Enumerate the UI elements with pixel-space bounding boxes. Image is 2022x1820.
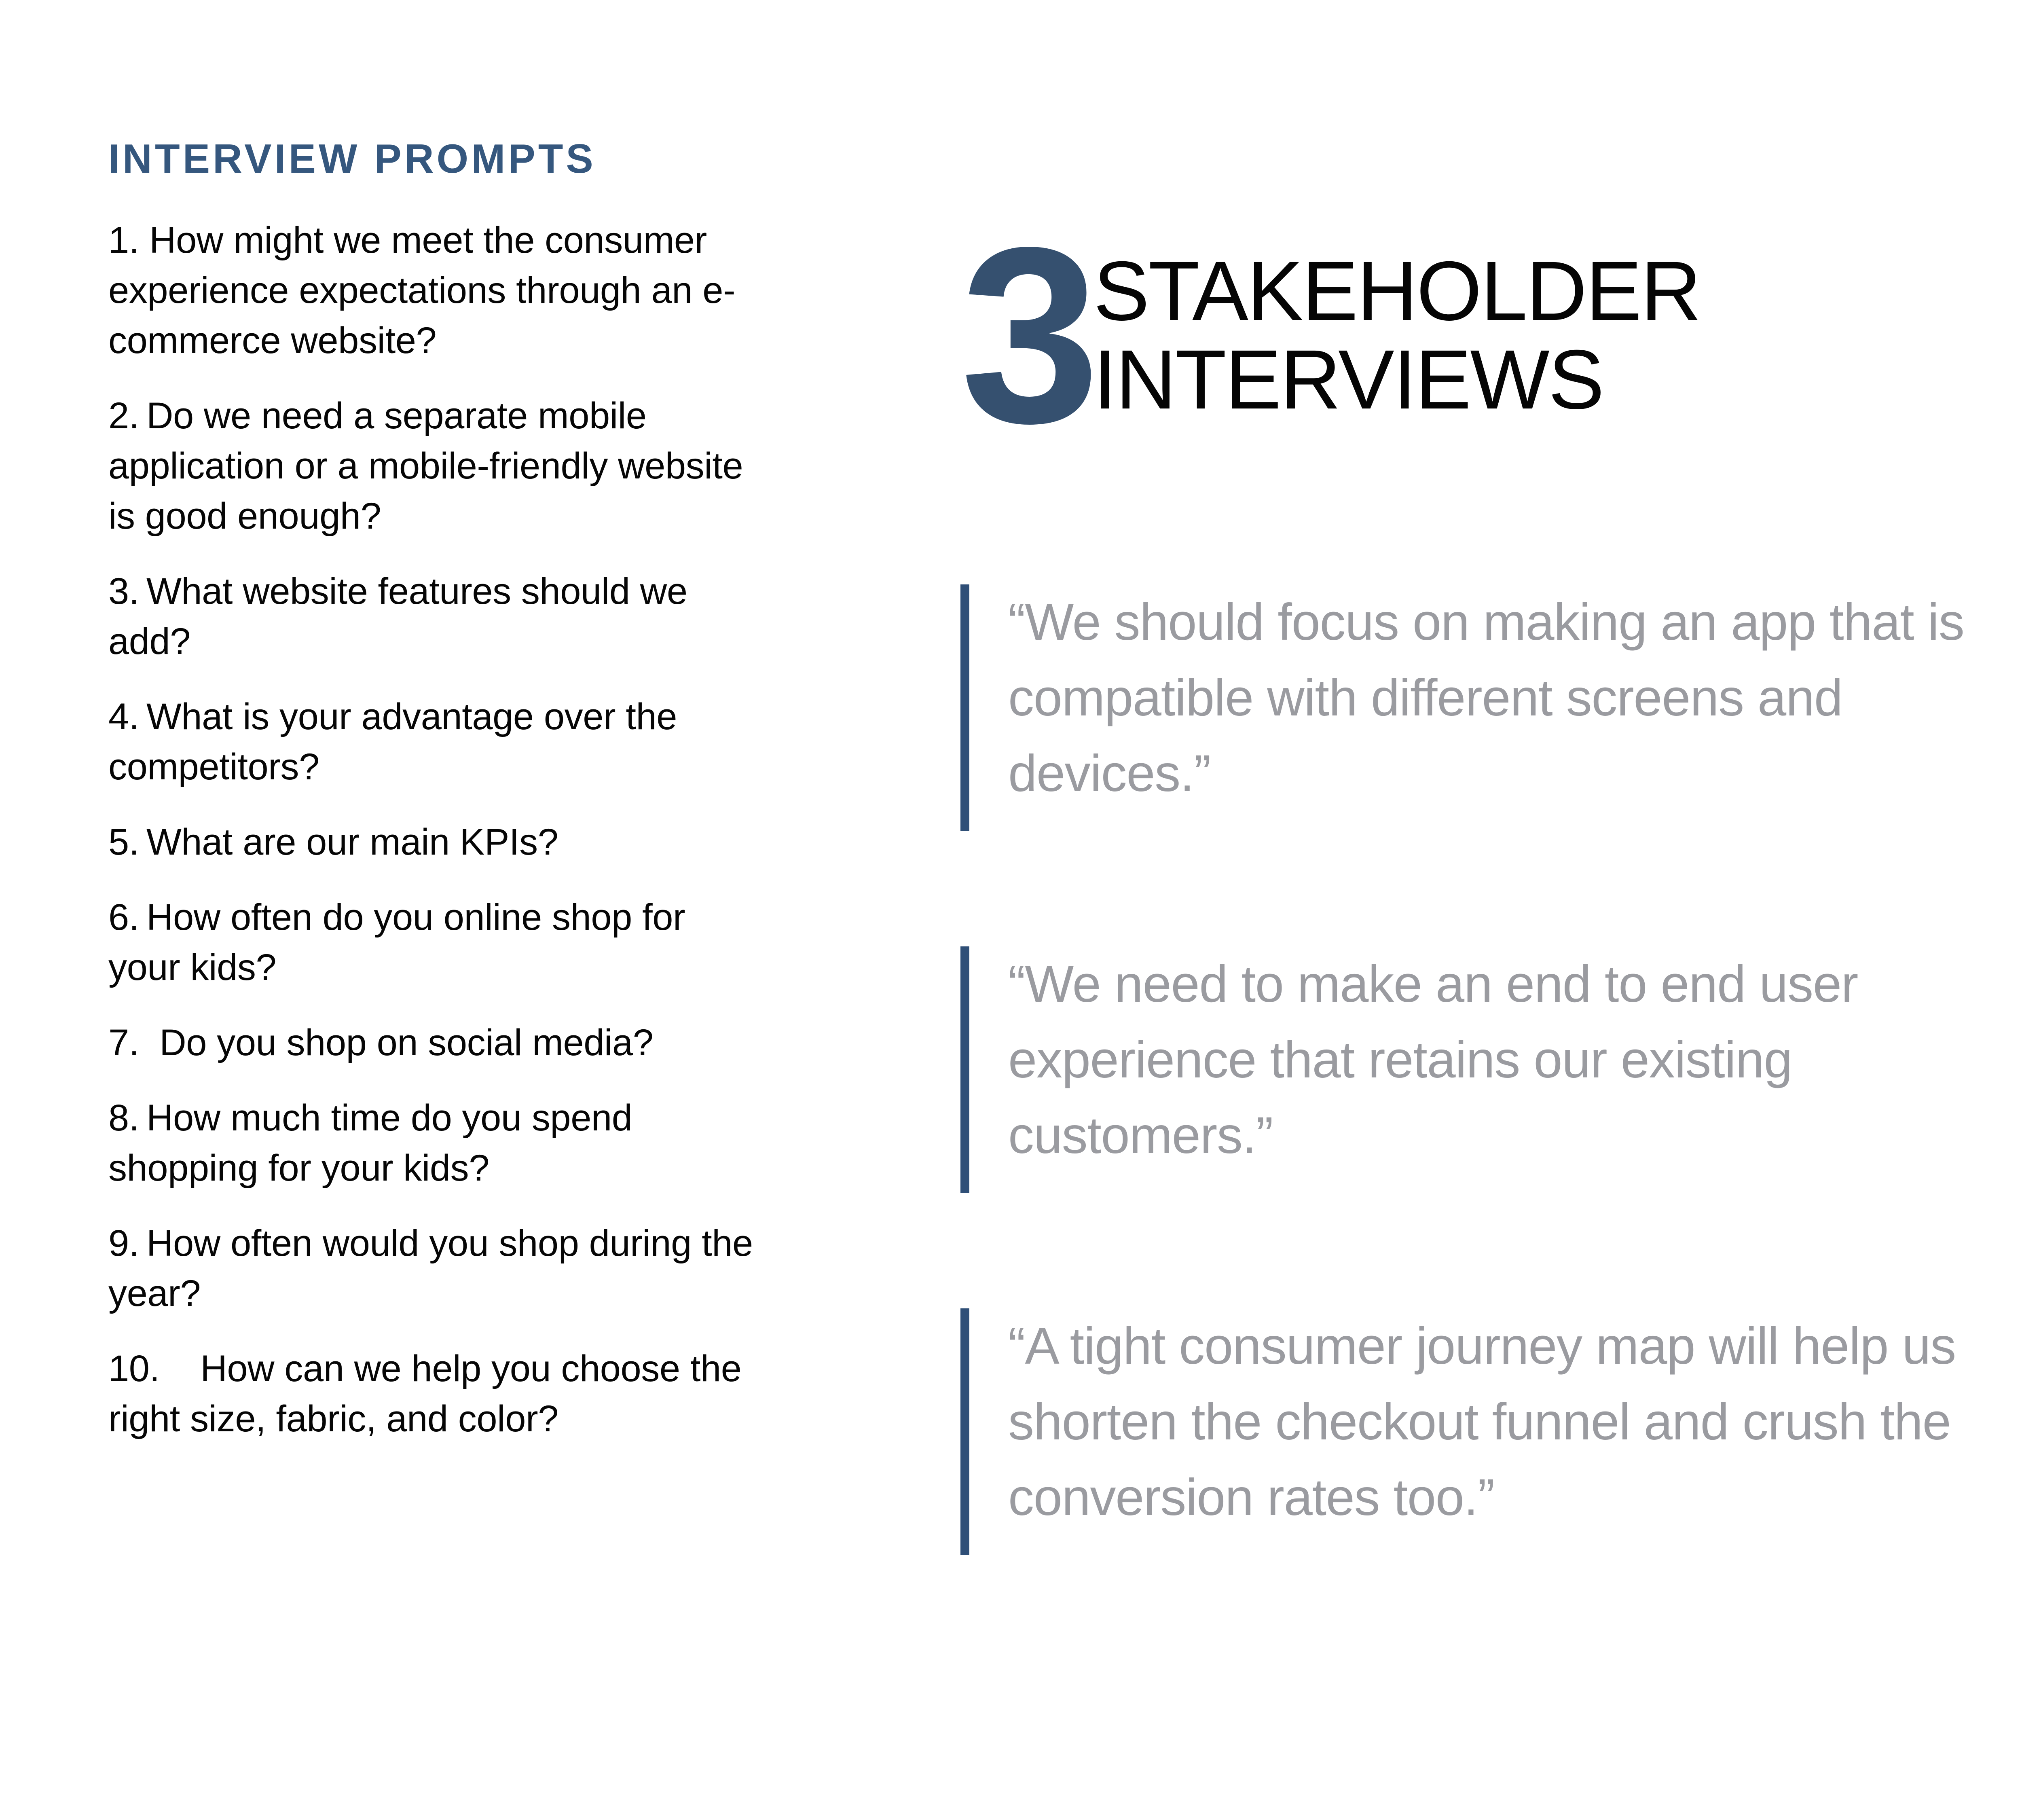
quote-accent-bar [960,584,969,831]
stakeholder-interviews-column: 3 STAKEHOLDER INTERVIEWS “We should focu… [960,218,2022,1555]
interview-prompts-list: 1. How might we meet the consumer experi… [108,215,764,1444]
quote-accent-bar [960,946,969,1193]
stakeholder-quote-stack: “We should focus on making an app that i… [960,584,2022,1555]
interview-prompts-panel: INTERVIEW PROMPTS 1. How might we meet t… [108,138,764,1444]
prompt-item-8: 8. How much time do you spend shopping f… [108,1093,764,1193]
page-title: INTERVIEW PROMPTS [108,138,764,180]
quote-block: “A tight consumer journey map will help … [960,1308,2022,1555]
prompt-item-5: 5. What are our main KPIs? [108,817,764,867]
prompt-item-3: 3. What website features should we add? [108,566,764,667]
quote-text: “We should focus on making an app that i… [969,584,2022,831]
prompt-item-2: 2. Do we need a separate mobile applicat… [108,391,764,541]
quote-accent-bar [960,1308,969,1555]
prompt-item-6: 6. How often do you online shop for your… [108,892,764,993]
prompt-item-7: 7. Do you shop on social media? [108,1018,764,1068]
prompt-item-1: 1. How might we meet the consumer experi… [108,215,764,366]
quote-text: “A tight consumer journey map will help … [969,1308,2022,1555]
stakeholder-heading: 3 STAKEHOLDER INTERVIEWS [960,218,2022,453]
quote-block: “We should focus on making an app that i… [960,584,2022,831]
stakeholder-heading-label: STAKEHOLDER INTERVIEWS [1093,247,1700,425]
prompt-item-4: 4. What is your advantage over the compe… [108,692,764,792]
stakeholder-count: 3 [960,238,1091,434]
prompt-item-10: 10. How can we help you choose the right… [108,1344,764,1444]
quote-block: “We need to make an end to end user expe… [960,946,2022,1193]
quote-text: “We need to make an end to end user expe… [969,946,2022,1193]
prompt-item-9: 9. How often would you shop during the y… [108,1218,764,1318]
